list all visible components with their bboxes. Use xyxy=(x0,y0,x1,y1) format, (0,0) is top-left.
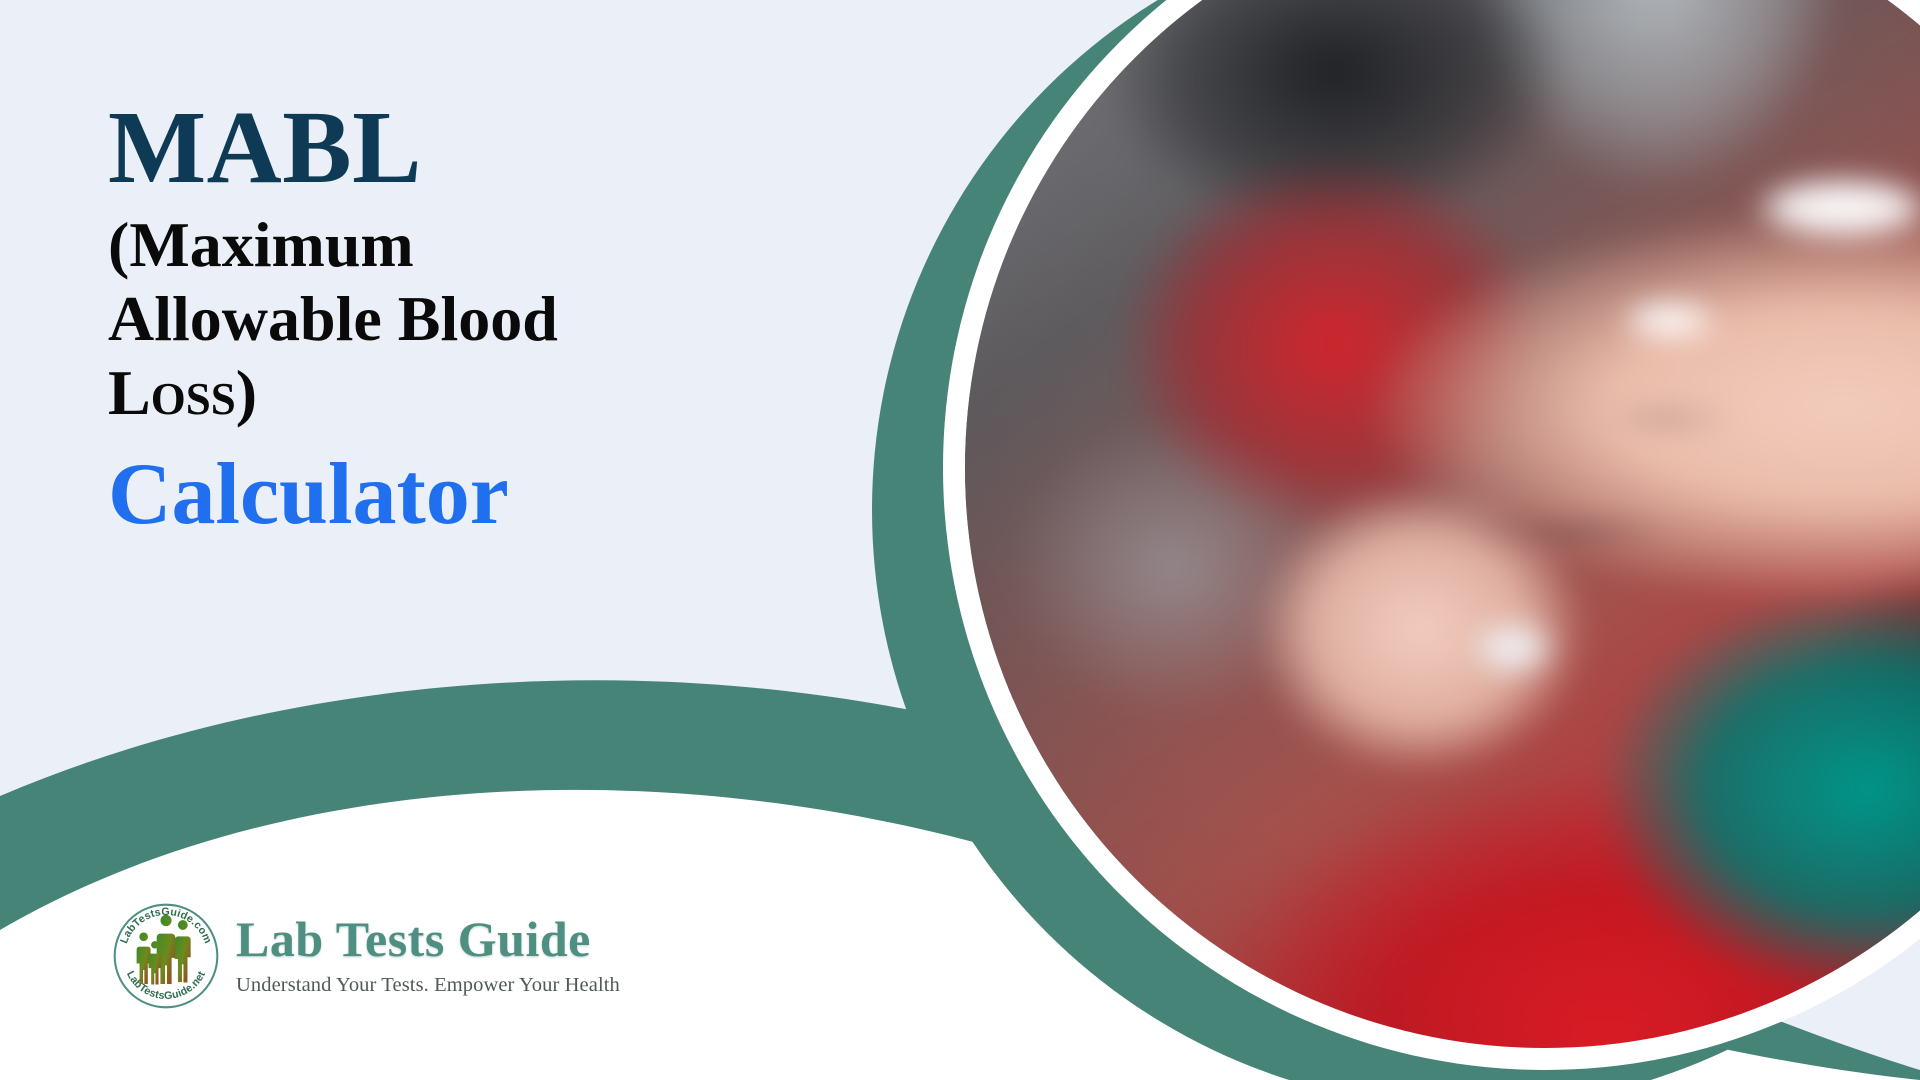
brand-text-block: Lab Tests Guide Understand Your Tests. E… xyxy=(236,914,620,998)
brand-tagline: Understand Your Tests. Empower Your Heal… xyxy=(236,973,620,998)
photo-vignette xyxy=(965,0,1920,1048)
headline-block: MABL (Maximum Allowable Blood Loss) Calc… xyxy=(108,96,868,541)
brand-name: Lab Tests Guide xyxy=(236,914,620,964)
lab-tests-guide-logo-icon: LabTestsGuide.com LabTestsGuide.net xyxy=(110,900,222,1012)
hero-photo xyxy=(965,0,1920,1048)
title-action-word: Calculator xyxy=(108,449,868,541)
brand-lockup[interactable]: LabTestsGuide.com LabTestsGuide.net xyxy=(110,900,620,1012)
title-expansion-line-2: Allowable Blood xyxy=(108,283,558,354)
title-acronym: MABL xyxy=(108,96,868,200)
banner-root: MABL (Maximum Allowable Blood Loss) Calc… xyxy=(0,0,1920,1080)
title-expansion: (Maximum Allowable Blood Loss) xyxy=(108,208,828,431)
title-expansion-line-3: Loss) xyxy=(108,357,257,428)
title-expansion-line-1: (Maximum xyxy=(108,209,414,280)
